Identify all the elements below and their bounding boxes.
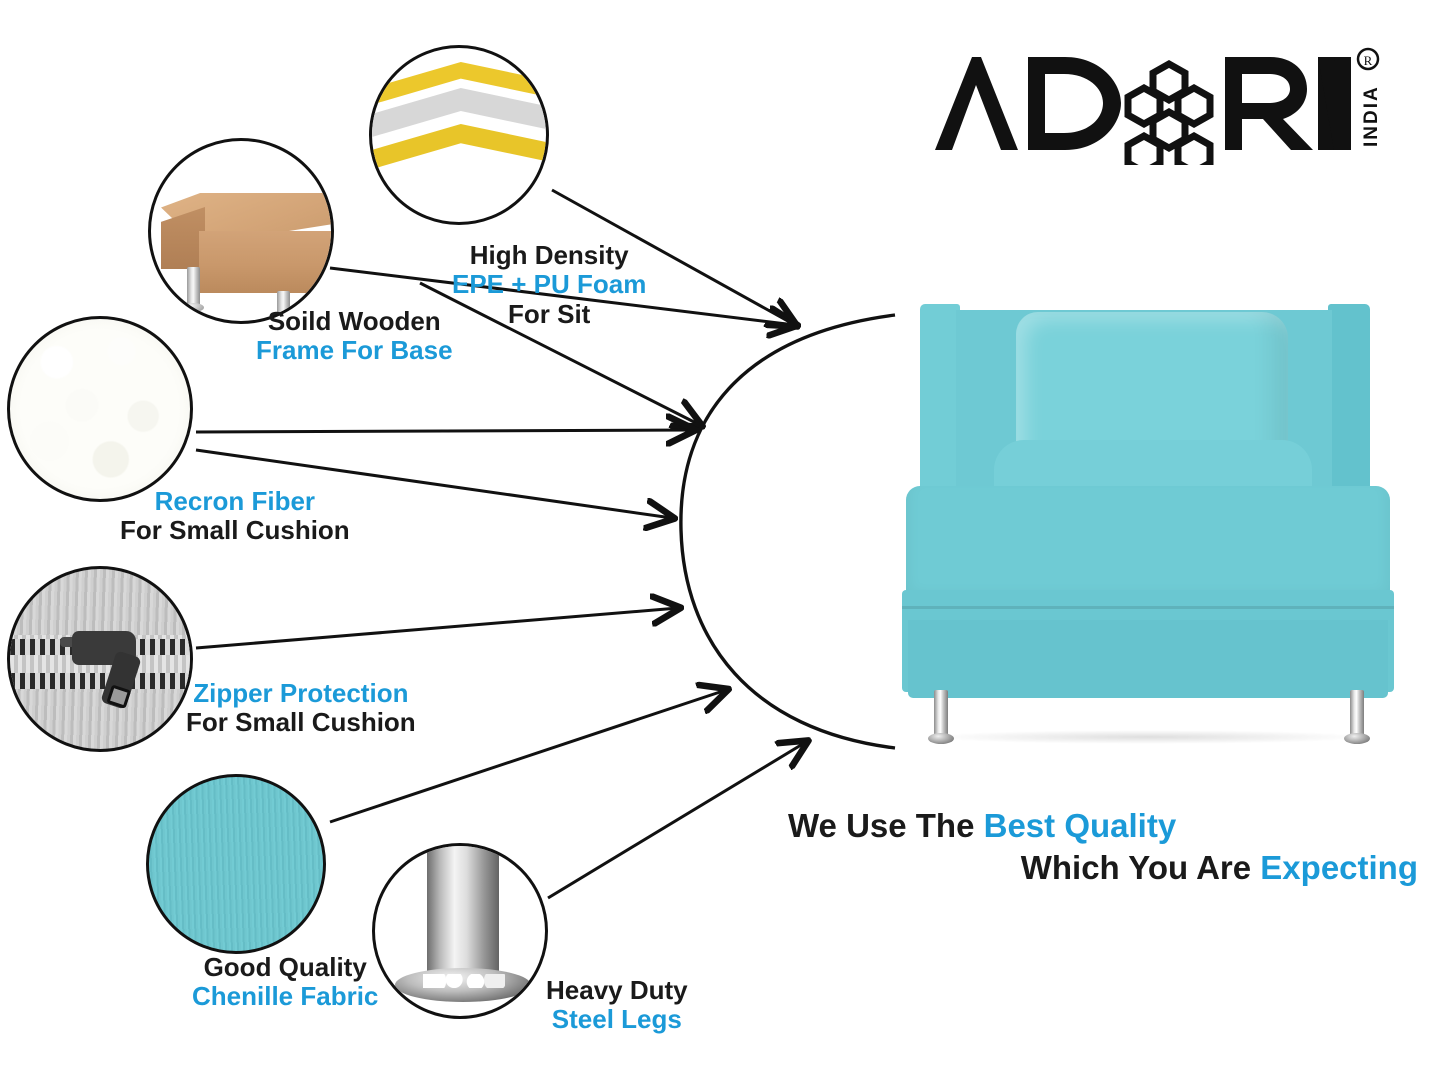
label-line-2: For Small Cushion: [120, 516, 350, 545]
tagline-line1-plain: We Use The: [788, 807, 984, 844]
label-line-2: For Small Cushion: [186, 708, 416, 737]
adorn-india-logo-icon: INDIA R: [925, 45, 1390, 165]
label-steel-legs: Heavy Duty Steel Legs: [546, 976, 688, 1035]
fiber-fill-photo-icon: [7, 316, 193, 502]
label-line-2: EPE + PU Foam: [452, 270, 646, 299]
svg-text:R: R: [1364, 53, 1373, 68]
label-line-1: Zipper Protection: [186, 679, 416, 708]
label-line-2: Chenille Fabric: [192, 982, 378, 1011]
label-line-2: Steel Legs: [546, 1005, 688, 1034]
label-chenille-fabric: Good Quality Chenille Fabric: [192, 953, 378, 1012]
sofa-plinth: [908, 620, 1388, 698]
product-image-sofa: [898, 290, 1398, 750]
sofa-base-seam: [902, 606, 1394, 609]
wooden-frame-photo-icon: [148, 138, 334, 324]
tagline-line2-plain: Which You Are: [1021, 849, 1261, 886]
label-line-3: For Sit: [452, 300, 646, 329]
arrow-steel-leg: [548, 742, 806, 898]
tagline: We Use The Best Quality Which You Are Ex…: [788, 805, 1418, 889]
label-recron-fiber: Recron Fiber For Small Cushion: [120, 487, 350, 546]
infographic-canvas: INDIA R: [0, 0, 1445, 1084]
sofa-seat: [906, 486, 1390, 606]
svg-text:INDIA: INDIA: [1361, 85, 1382, 147]
steel-leg-photo-icon: [372, 843, 548, 1019]
arrow-fiber-upper: [196, 430, 693, 432]
arrow-zipper: [196, 608, 678, 648]
label-line-1: Heavy Duty: [546, 976, 688, 1005]
label-high-density-foam: High Density EPE + PU Foam For Sit: [452, 241, 646, 329]
label-zipper-protection: Zipper Protection For Small Cushion: [186, 679, 416, 738]
label-line-1: Recron Fiber: [120, 487, 350, 516]
sofa-leg-right: [1350, 690, 1364, 738]
label-solid-wood-frame: Soild Wooden Frame For Base: [256, 307, 453, 366]
tagline-line1-accent: Best Quality: [984, 807, 1177, 844]
sofa-shadow: [928, 730, 1368, 744]
label-line-1: High Density: [452, 241, 646, 270]
foam-layers-photo-icon: [369, 45, 549, 225]
fabric-swatch-photo-icon: [146, 774, 326, 954]
brand-logo: INDIA R: [925, 45, 1390, 165]
label-line-1: Soild Wooden: [256, 307, 453, 336]
label-line-1: Good Quality: [192, 953, 378, 982]
sofa-backrest-right: [1328, 304, 1370, 516]
frame-leg-icon: [187, 267, 200, 307]
sofa-leg-left: [934, 690, 948, 738]
zipper-photo-icon: [7, 566, 193, 752]
sofa-backrest-left: [920, 304, 960, 516]
focus-arc: [681, 315, 895, 748]
tagline-line2-accent: Expecting: [1260, 849, 1418, 886]
label-line-2: Frame For Base: [256, 336, 453, 365]
